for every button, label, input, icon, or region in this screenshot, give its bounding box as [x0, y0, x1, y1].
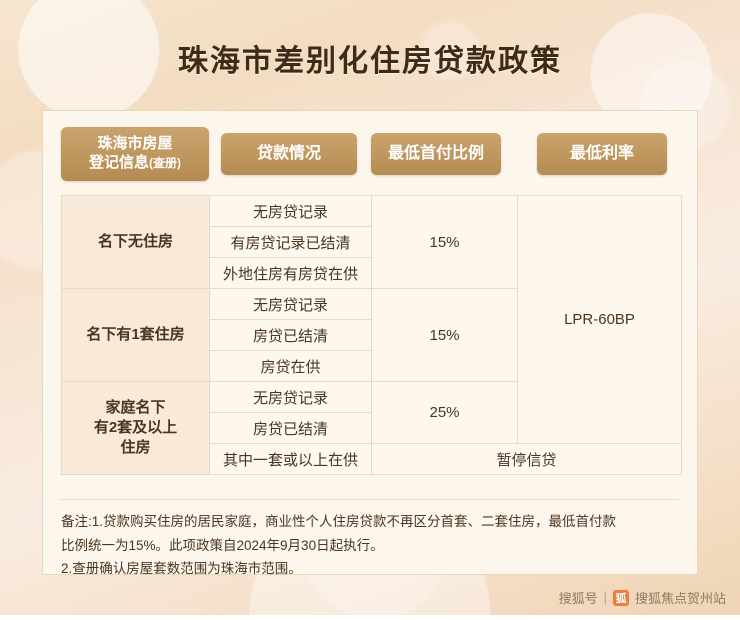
footnote-line-1: 备注:1.贷款购买住房的居民家庭，商业性个人住房贷款不再区分首套、二套住房，最低…: [61, 510, 679, 534]
sohu-logo-icon: 狐: [613, 590, 629, 606]
row-case-0-0: 无房贷记录: [210, 196, 372, 227]
header-chip-registry-line2-sub: (查册): [149, 156, 181, 170]
header-chip-registry-line2: 登记信息(查册): [89, 154, 181, 173]
row-category-2: 家庭名下 有2套及以上 住房: [62, 382, 210, 475]
header-chip-rate: 最低利率: [537, 133, 667, 175]
row-case-0-1: 有房贷记录已结清: [210, 227, 372, 258]
header-chip-loan-status-label: 贷款情况: [257, 144, 321, 164]
rate-main-value: LPR-60BP: [518, 196, 682, 444]
poster-root: 珠海市差别化住房贷款政策 珠海市房屋 登记信息(查册) 贷款情况 最低首付比例 …: [0, 0, 740, 615]
header-chip-down-payment-label: 最低首付比例: [388, 144, 484, 164]
row-case-1-0: 无房贷记录: [210, 289, 372, 320]
row-category-1: 名下有1套住房: [62, 289, 210, 382]
table-header-chips: 珠海市房屋 登记信息(查册) 贷款情况 最低首付比例 最低利率: [43, 111, 697, 185]
header-chip-registry-line1: 珠海市房屋: [97, 135, 172, 154]
row-downpayment-1: 15%: [372, 289, 518, 382]
header-chip-registry-line2-main: 登记信息: [89, 154, 149, 171]
row-category-0: 名下无住房: [62, 196, 210, 289]
watermark: 搜狐号 | 狐 搜狐焦点贺州站: [559, 588, 726, 607]
row-downpayment-2: 25%: [372, 382, 518, 444]
page-title: 珠海市差别化住房贷款政策: [0, 36, 740, 80]
table-row: 名下无住房 无房贷记录 15% LPR-60BP: [62, 196, 682, 227]
footnotes: 备注:1.贷款购买住房的居民家庭，商业性个人住房贷款不再区分首套、二套住房，最低…: [61, 499, 679, 581]
header-chip-loan-status: 贷款情况: [221, 133, 357, 175]
row-case-2-1: 房贷已结清: [210, 413, 372, 444]
policy-table: 名下无住房 无房贷记录 15% LPR-60BP 有房贷记录已结清 外地住房有房…: [61, 195, 682, 475]
header-chip-down-payment: 最低首付比例: [371, 133, 501, 175]
footnote-line-2: 比例统一为15%。此项政策自2024年9月30日起执行。: [61, 534, 679, 558]
rate-suspend-value: 暂停信贷: [372, 444, 682, 475]
row-downpayment-0: 15%: [372, 196, 518, 289]
footnote-line-3: 2.查册确认房屋套数范围为珠海市范围。: [61, 557, 679, 581]
header-chip-registry: 珠海市房屋 登记信息(查册): [61, 127, 209, 181]
header-chip-rate-label: 最低利率: [570, 144, 634, 164]
row-case-1-1: 房贷已结清: [210, 320, 372, 351]
row-case-2-0: 无房贷记录: [210, 382, 372, 413]
row-case-2-2: 其中一套或以上在供: [210, 444, 372, 475]
watermark-site: 搜狐焦点贺州站: [635, 588, 726, 607]
row-case-0-2: 外地住房有房贷在供: [210, 258, 372, 289]
policy-card: 珠海市房屋 登记信息(查册) 贷款情况 最低首付比例 最低利率 名下无住房 无房: [42, 110, 698, 575]
row-category-2-line1: 家庭名下: [62, 398, 209, 418]
row-category-2-line3: 住房: [62, 438, 209, 458]
watermark-separator: |: [604, 590, 607, 605]
row-category-2-line2: 有2套及以上: [62, 418, 209, 438]
row-case-1-2: 房贷在供: [210, 351, 372, 382]
watermark-account: 搜狐号: [559, 588, 598, 607]
